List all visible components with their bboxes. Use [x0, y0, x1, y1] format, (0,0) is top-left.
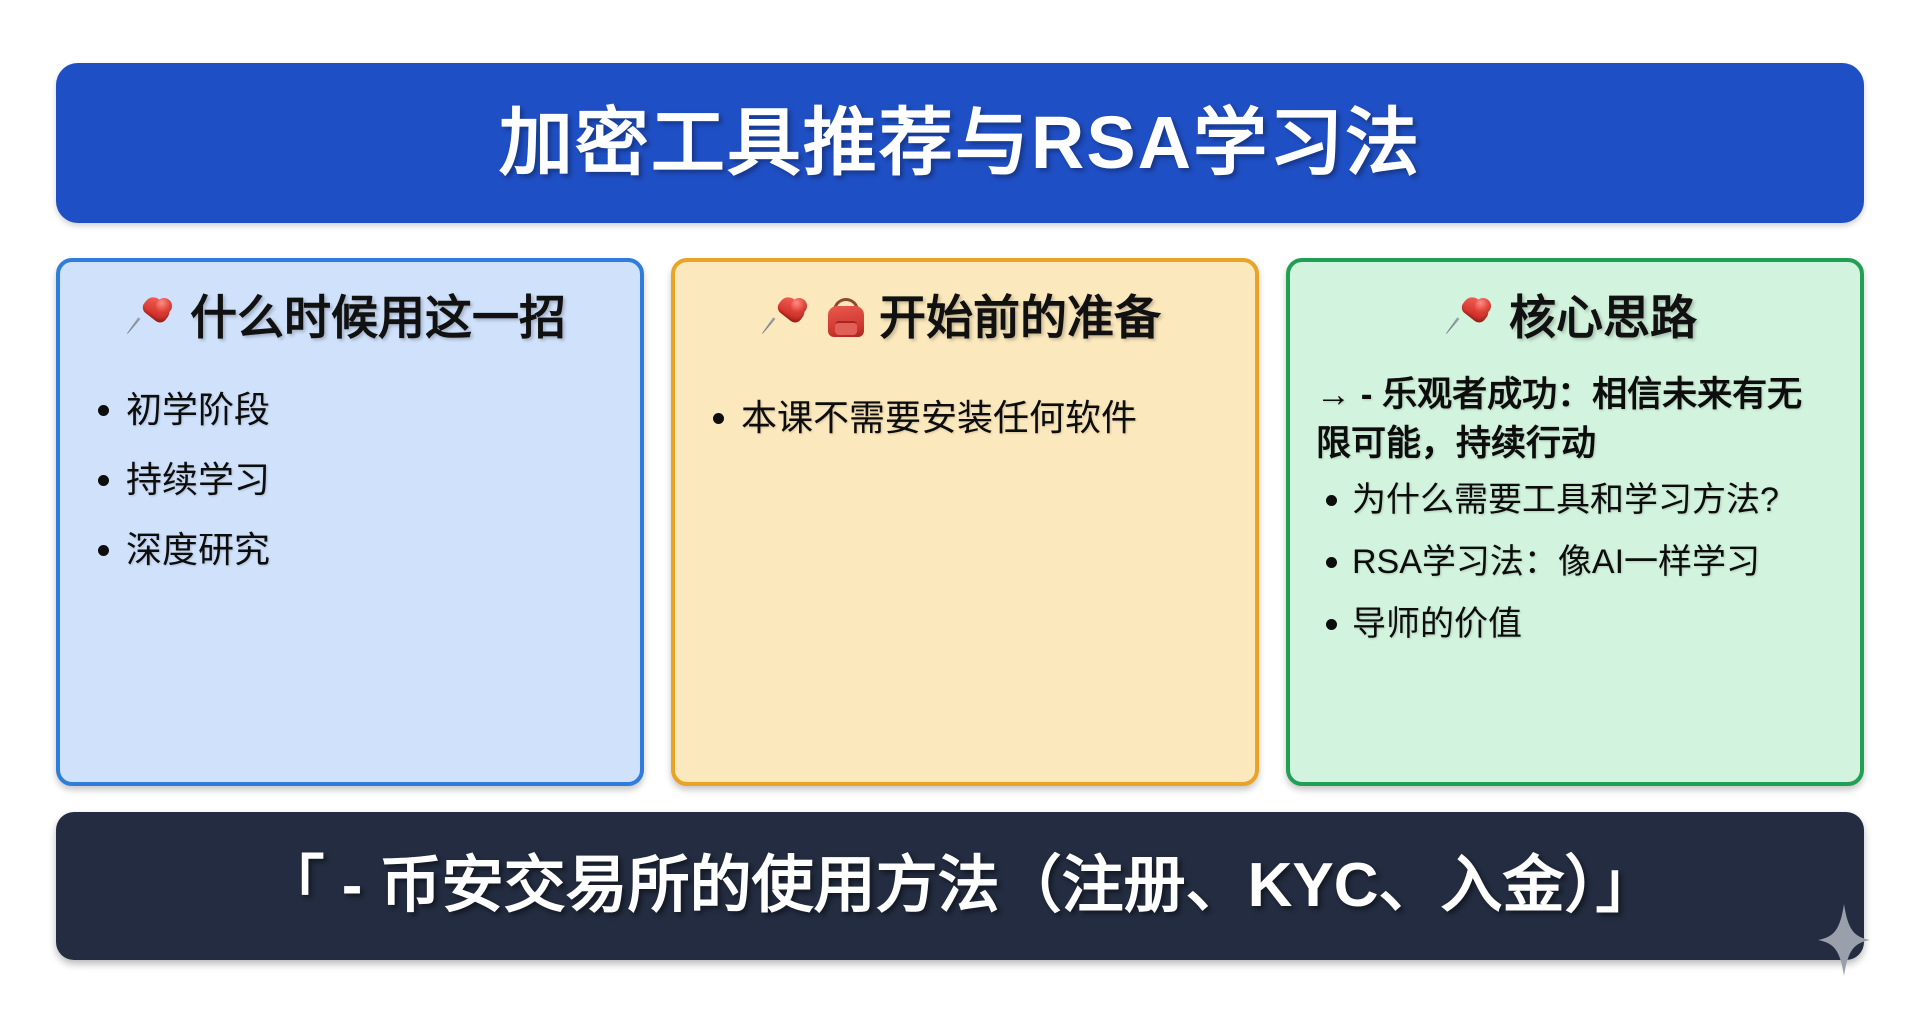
- card-body-preparation: 本课不需要安装任何软件: [701, 370, 1229, 436]
- card-preparation: 开始前的准备 本课不需要安装任何软件: [671, 258, 1259, 786]
- card-heading-text: 什么时候用这一招: [190, 292, 566, 344]
- card-heading-core-ideas: 核心思路: [1316, 292, 1834, 344]
- list-item: 本课不需要安装任何软件: [701, 400, 1229, 436]
- card-when-to-use: 什么时候用这一招 初学阶段 持续学习 深度研究: [56, 258, 644, 786]
- backpack-icon: [825, 296, 867, 340]
- list-item: RSA学习法：像AI一样学习: [1316, 545, 1834, 579]
- list-item: 为什么需要工具和学习方法?: [1316, 483, 1834, 517]
- list-item: 持续学习: [86, 462, 614, 498]
- bullet-list-core-ideas: 为什么需要工具和学习方法? RSA学习法：像AI一样学习 导师的价值: [1316, 483, 1834, 641]
- list-item: 初学阶段: [86, 392, 614, 428]
- cards-row: 什么时候用这一招 初学阶段 持续学习 深度研究: [56, 258, 1864, 786]
- list-item: 深度研究: [86, 532, 614, 568]
- pushpin-icon: [1453, 296, 1497, 340]
- pushpin-icon: [134, 296, 178, 340]
- bullet-list-preparation: 本课不需要安装任何软件: [701, 370, 1229, 436]
- card-heading-text: 核心思路: [1509, 292, 1697, 344]
- list-item: 导师的价值: [1316, 607, 1834, 641]
- card-heading-text: 开始前的准备: [879, 292, 1161, 344]
- card-body-when-to-use: 初学阶段 持续学习 深度研究: [86, 370, 614, 568]
- card-body-core-ideas: → - 乐观者成功：相信未来有无限可能，持续行动 为什么需要工具和学习方法? R…: [1316, 370, 1834, 641]
- slide-canvas: 加密工具推荐与RSA学习法 什么时候用这一招 初学阶段 持续学习 深度研究: [0, 0, 1920, 1014]
- card-heading-when-to-use: 什么时候用这一招: [86, 292, 614, 344]
- card-core-ideas: 核心思路 → - 乐观者成功：相信未来有无限可能，持续行动 为什么需要工具和学习…: [1286, 258, 1864, 786]
- footer-banner: 「 - 币安交易所的使用方法（注册、KYC、入金）」: [56, 812, 1864, 960]
- pushpin-icon: [769, 296, 813, 340]
- header-banner: 加密工具推荐与RSA学习法: [56, 63, 1864, 223]
- footer-text: 「 - 币安交易所的使用方法（注册、KYC、入金）」: [262, 855, 1657, 917]
- core-ideas-lead-note: → - 乐观者成功：相信未来有无限可能，持续行动: [1316, 370, 1834, 469]
- card-heading-preparation: 开始前的准备: [701, 292, 1229, 344]
- bullet-list-when-to-use: 初学阶段 持续学习 深度研究: [86, 370, 614, 568]
- page-title: 加密工具推荐与RSA学习法: [499, 106, 1421, 180]
- sparkle-icon: [1818, 904, 1870, 976]
